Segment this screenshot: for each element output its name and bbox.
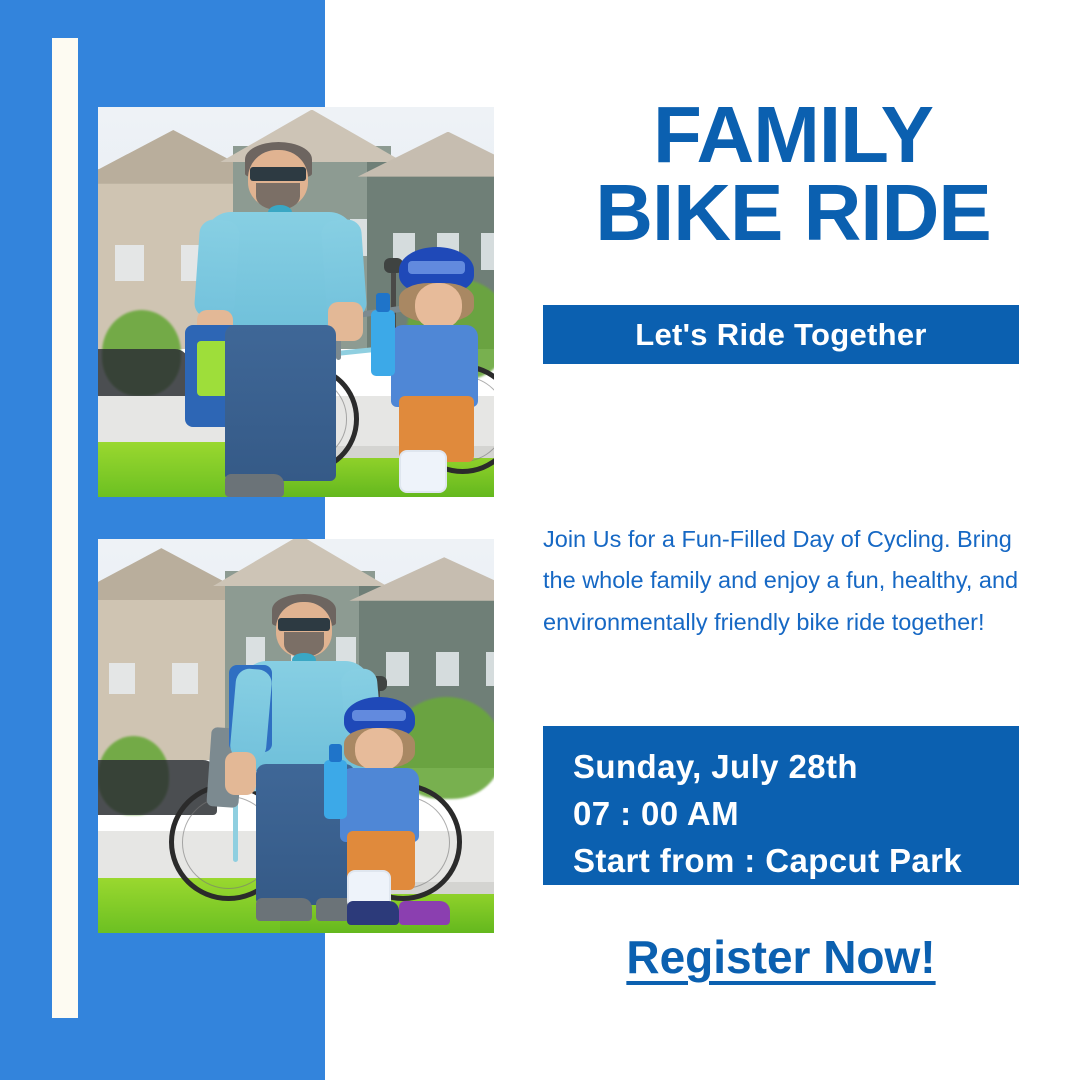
sunglasses-icon: [250, 167, 305, 181]
man-forearm: [225, 752, 257, 795]
cream-vertical-stripe: [52, 38, 78, 1018]
man-arm: [229, 668, 272, 761]
page-title: FAMILY BIKE RIDE: [543, 96, 1043, 251]
photo-bottom: [98, 539, 494, 933]
event-details-banner: Sunday, July 28th 07 : 00 AM Start from …: [543, 726, 1019, 885]
man-jeans: [225, 325, 336, 481]
sunglasses-icon: [278, 618, 329, 631]
register-now-link[interactable]: Register Now!: [626, 931, 935, 983]
water-bottle-icon: [324, 760, 348, 819]
kid-shoe: [347, 901, 398, 925]
headline-line-2: BIKE RIDE: [543, 174, 1043, 252]
headline-line-1: FAMILY: [543, 96, 1043, 174]
kid-torso: [391, 325, 478, 407]
water-bottle-icon: [371, 310, 395, 376]
kid-knee-pad: [399, 450, 447, 493]
kid-face: [355, 728, 403, 771]
subtitle-banner: Let's Ride Together: [543, 305, 1019, 364]
man-shoe: [225, 474, 284, 497]
event-location: Start from : Capcut Park: [573, 842, 962, 880]
event-time: 07 : 00 AM: [573, 795, 739, 833]
man-arm: [194, 219, 240, 319]
photo-top: [98, 107, 494, 497]
car-icon: [98, 349, 189, 396]
event-date: Sunday, July 28th: [573, 748, 858, 786]
poster-canvas: FAMILY BIKE RIDE Let's Ride Together Joi…: [0, 0, 1080, 1080]
body-paragraph: Join Us for a Fun-Filled Day of Cycling.…: [543, 519, 1021, 644]
subtitle-text: Let's Ride Together: [635, 317, 927, 353]
cta-container: Register Now!: [543, 930, 1019, 984]
man-shoe: [256, 898, 311, 922]
kid-face: [415, 283, 463, 330]
kid-shoe: [399, 901, 450, 925]
